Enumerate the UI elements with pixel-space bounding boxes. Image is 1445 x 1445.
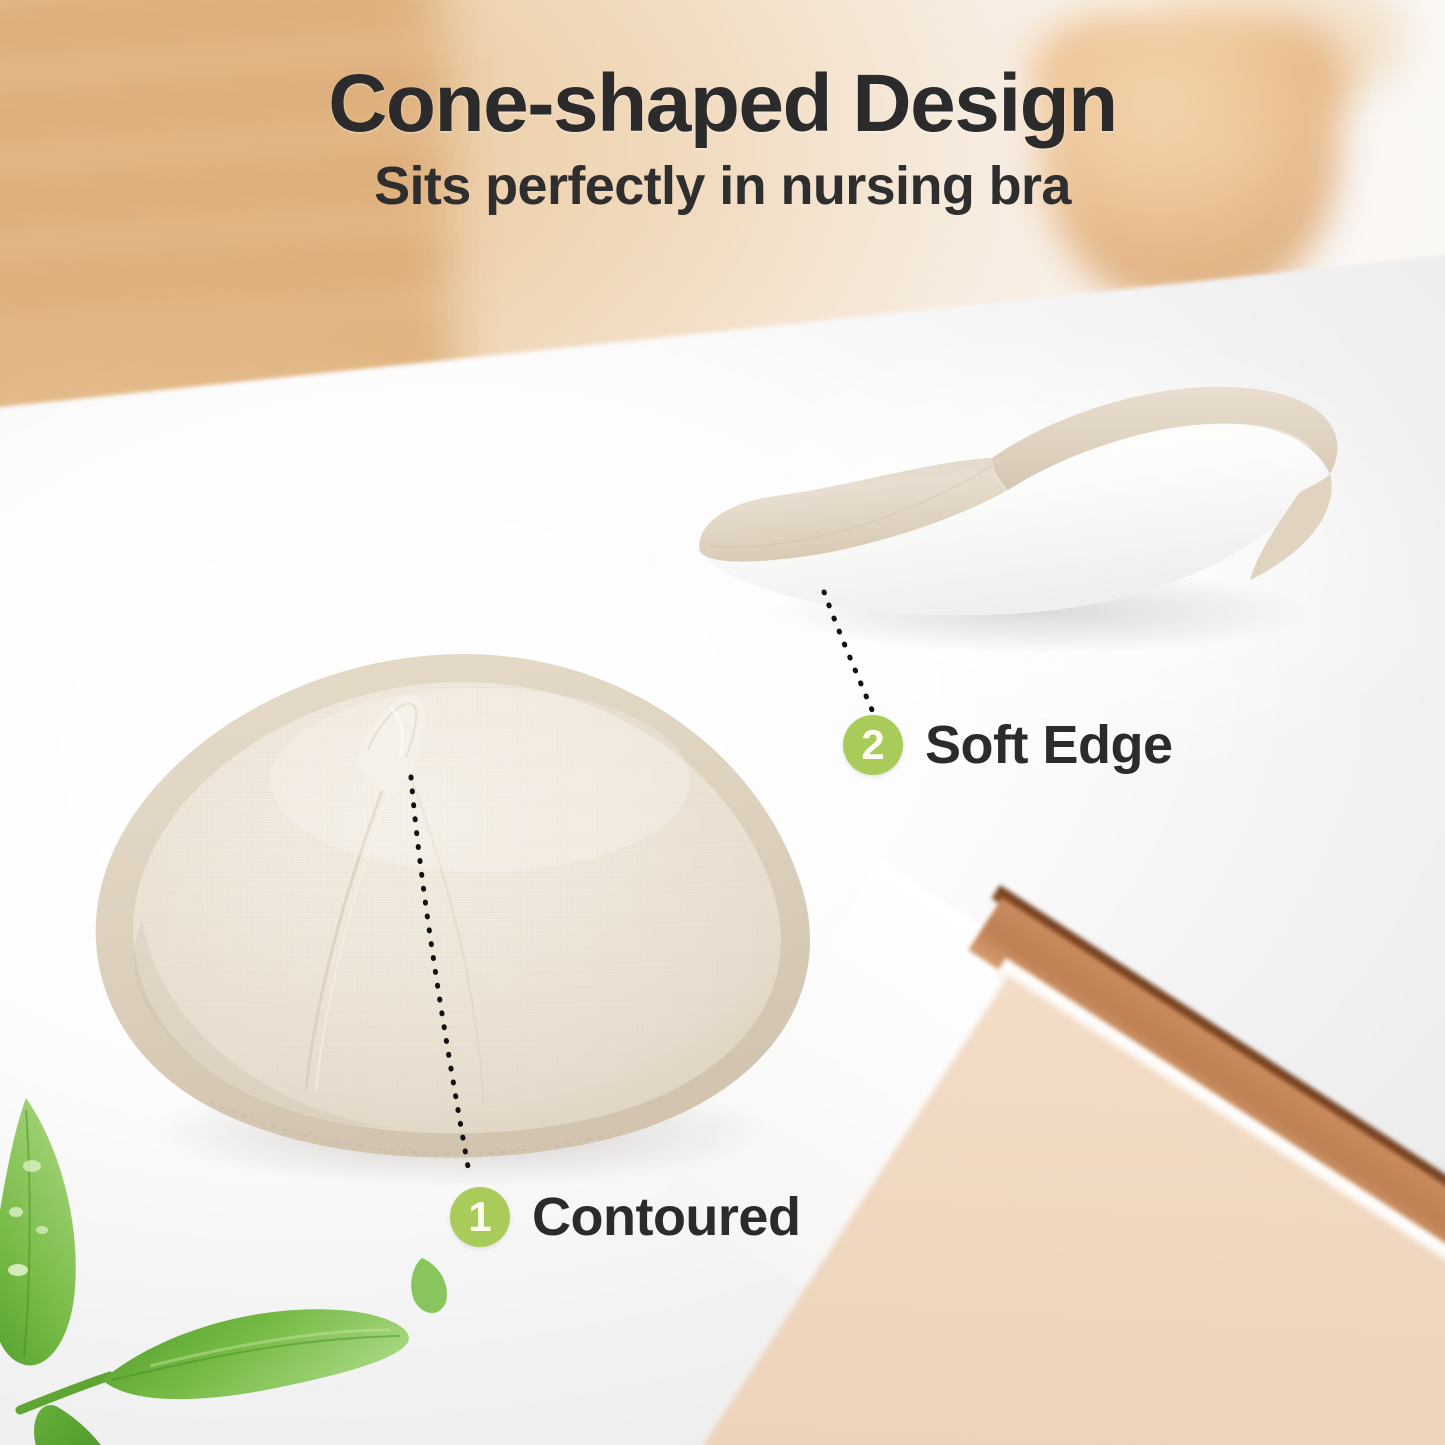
- nursing-pad-side-profile: [640, 340, 1360, 660]
- water-droplet: [23, 1160, 41, 1172]
- callout-label-soft-edge: Soft Edge: [925, 714, 1173, 776]
- bamboo-leaf-tip-right: [411, 1258, 447, 1313]
- cone-pad-top-highlight: [270, 688, 690, 872]
- water-droplet: [36, 1226, 48, 1234]
- callout-contoured: 1 Contoured: [450, 1186, 800, 1248]
- bamboo-leaves: [0, 1080, 450, 1445]
- bamboo-leaf-right: [102, 1309, 409, 1399]
- callout-label-contoured: Contoured: [532, 1186, 800, 1248]
- bamboo-leaf-lower: [34, 1405, 128, 1445]
- product-feature-image: Cone-shaped Design Sits perfectly in nur…: [0, 0, 1445, 1445]
- water-droplet: [9, 1207, 23, 1217]
- page-subtitle: Sits perfectly in nursing bra: [0, 158, 1445, 215]
- callout-badge-2: 2: [843, 715, 903, 775]
- heading-block: Cone-shaped Design Sits perfectly in nur…: [0, 62, 1445, 214]
- water-droplet: [8, 1264, 28, 1276]
- page-title: Cone-shaped Design: [0, 62, 1445, 146]
- callout-soft-edge: 2 Soft Edge: [843, 714, 1173, 776]
- callout-badge-1: 1: [450, 1187, 510, 1247]
- bamboo-stem: [20, 1376, 110, 1410]
